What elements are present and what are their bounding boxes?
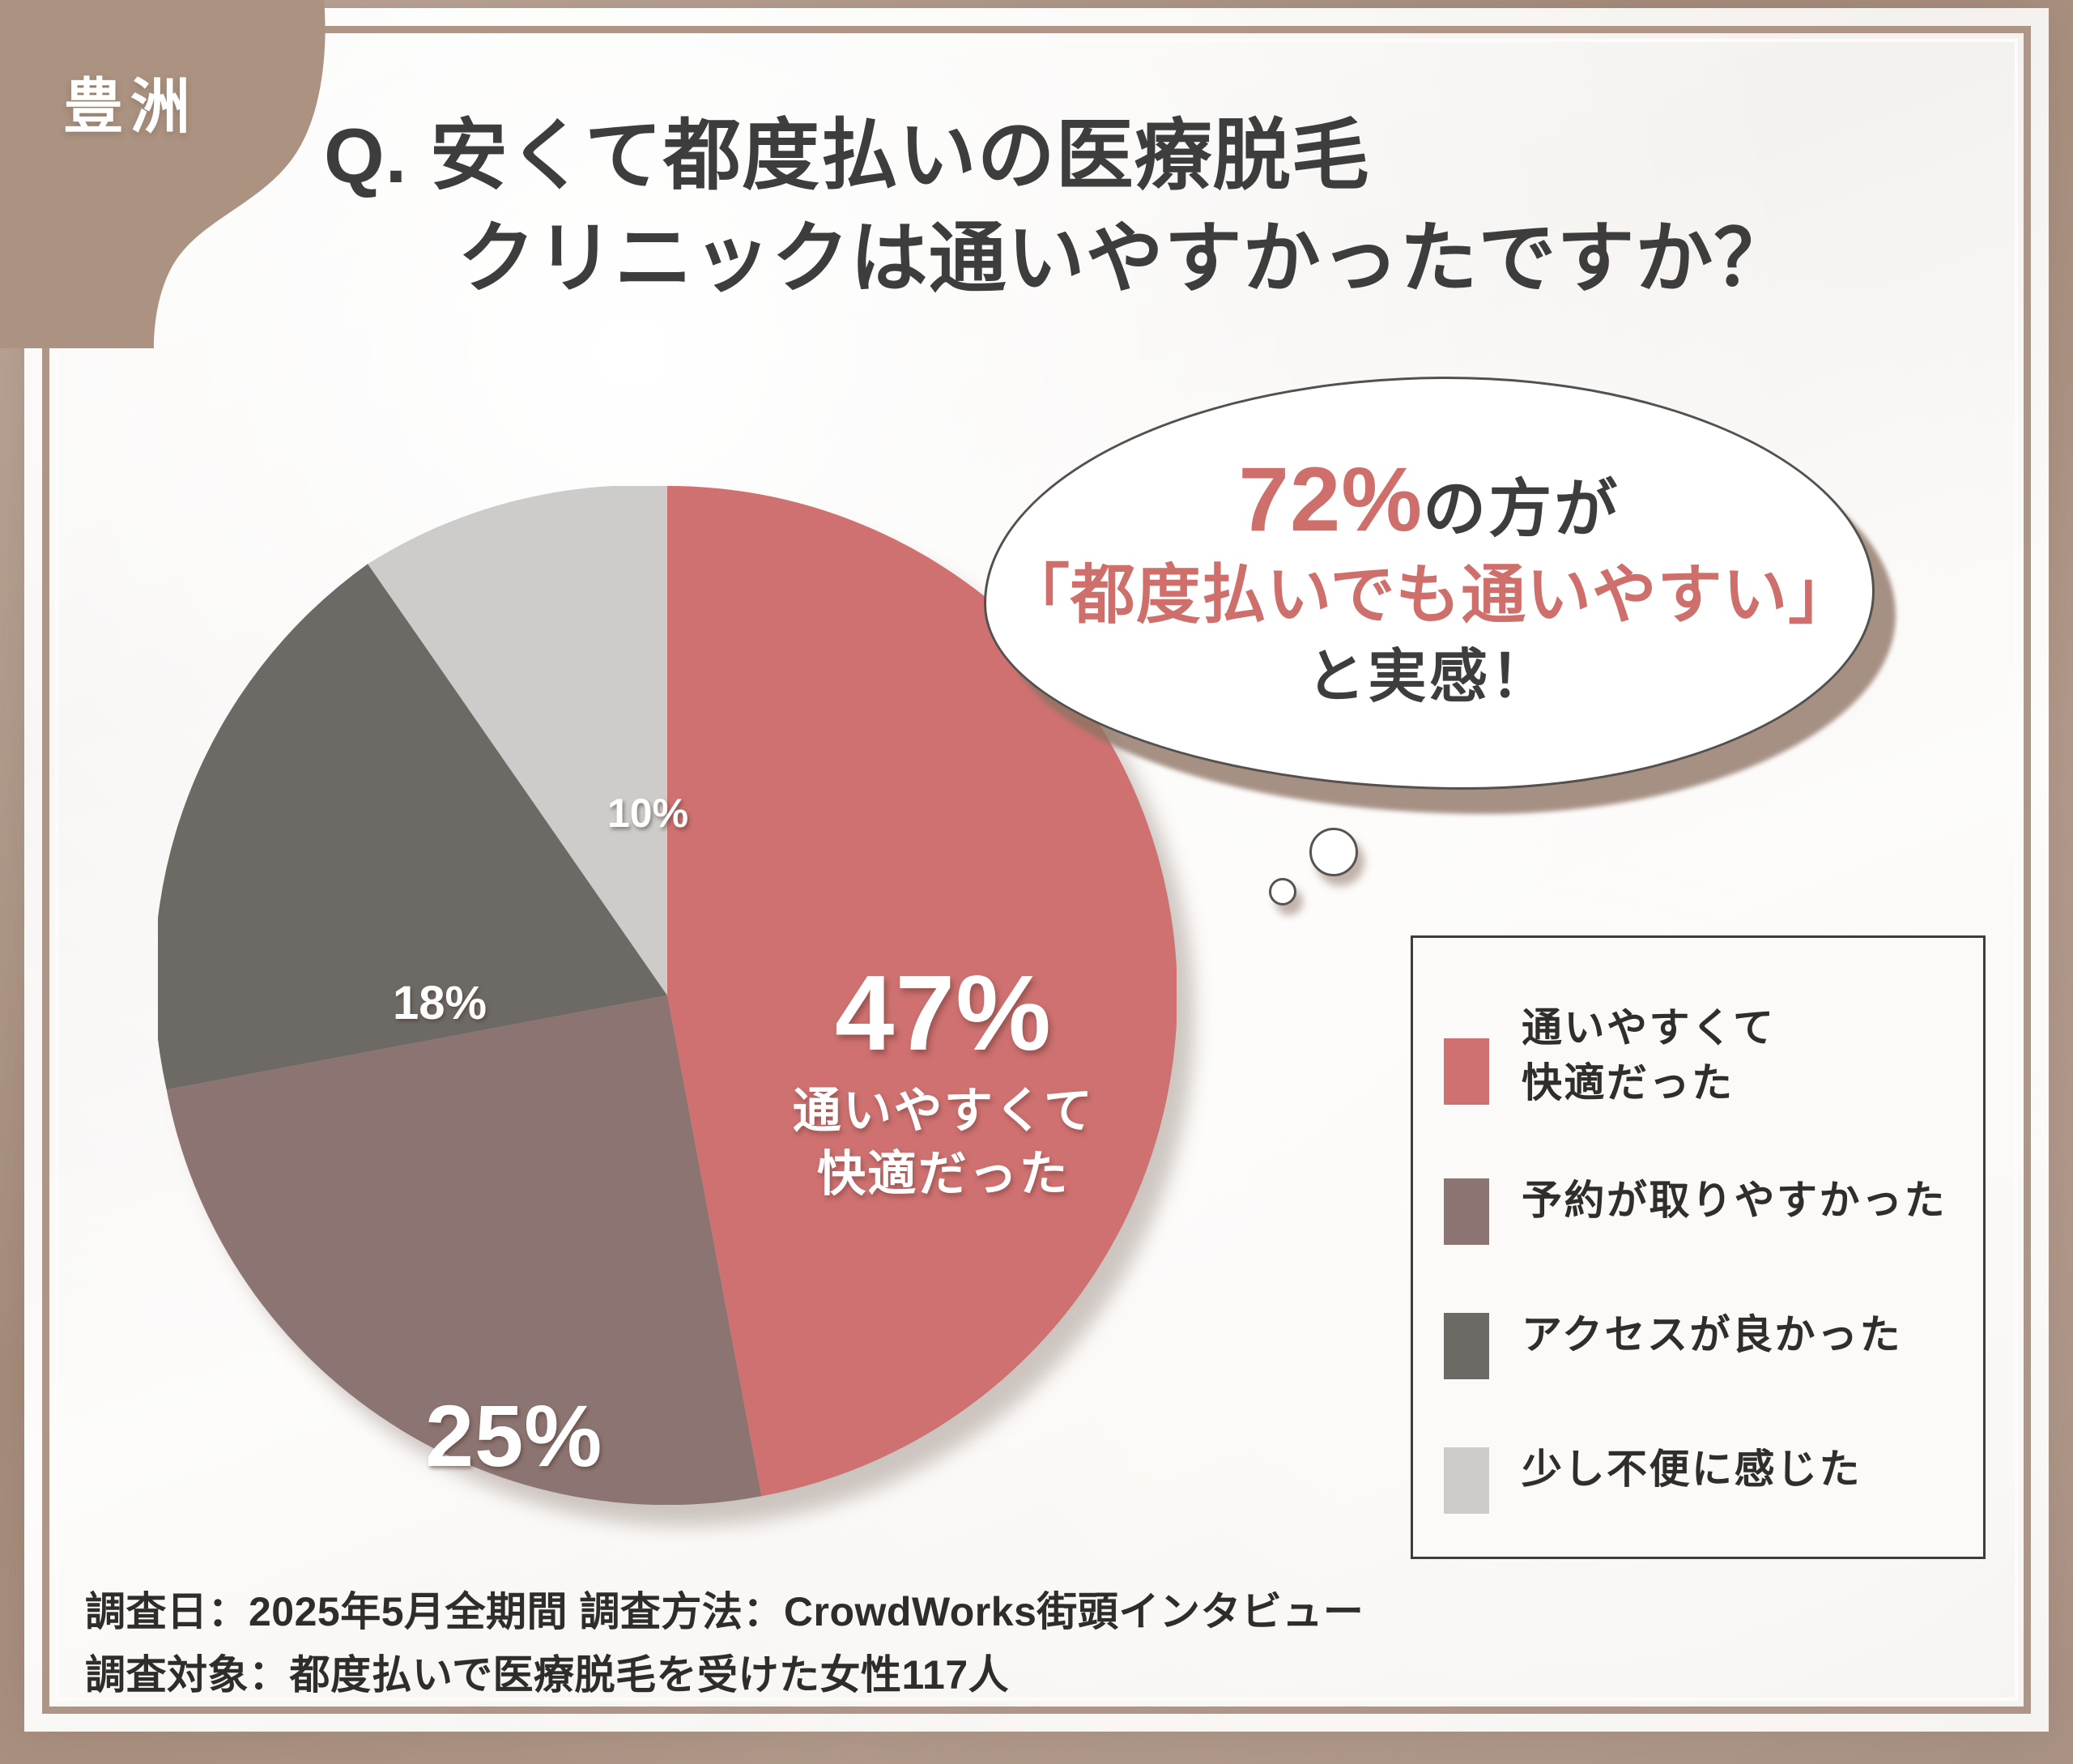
legend-swatch-3 (1444, 1447, 1489, 1514)
legend-item-0[interactable]: 通いやすくて 快適だった (1413, 1001, 1983, 1110)
page-title-line-1: Q. 安くて都度払いの医療脱毛 (324, 105, 1749, 208)
pie-slice-label-18: 18% (393, 976, 487, 1030)
legend-item-1[interactable]: 予約が取りやすかった (1413, 1174, 1983, 1245)
speech-bubble-line-1-suffix: の方が (1423, 473, 1620, 544)
speech-bubble-line-2: 「都度払いでも通いやすい」 (1005, 556, 1854, 634)
legend-swatch-0 (1444, 1038, 1489, 1105)
page-title: Q. 安くて都度払いの医療脱毛 クリニックは通いやすかったですか？ (324, 105, 1749, 310)
highlight-speech-bubble: 72%の方が 「都度払いでも通いやすい」 と実感！ (984, 377, 1907, 822)
legend-label-2: アクセスが良かった (1522, 1308, 1902, 1363)
legend-swatch-2 (1444, 1313, 1489, 1379)
survey-footnote: 調査日：2025年5月全期間 調査方法：CrowdWorks街頭インタビュー 調… (85, 1581, 1867, 1706)
survey-footnote-line-2: 調査対象：都度払いで医療脱毛を受けた女性117人 (85, 1644, 1867, 1707)
legend-label-0: 通いやすくて 快適だった (1522, 1001, 1776, 1110)
location-tab-label: 豊洲 (63, 58, 198, 145)
pie-slice-label-10: 10% (607, 790, 688, 837)
pie-slice-label-25: 25% (425, 1385, 602, 1486)
legend-item-3[interactable]: 少し不便に感じた (1413, 1442, 1983, 1514)
speech-bubble-line-1: 72%の方が (1239, 454, 1620, 545)
survey-footnote-line-1: 調査日：2025年5月全期間 調査方法：CrowdWorks街頭インタビュー (85, 1581, 1867, 1644)
speech-bubble-content: 72%の方が 「都度払いでも通いやすい」 と実感！ (984, 377, 1875, 790)
speech-bubble-tail-dot-small (1269, 878, 1296, 905)
legend-label-3: 少し不便に感じた (1522, 1442, 1862, 1498)
legend-item-2[interactable]: アクセスが良かった (1413, 1308, 1983, 1379)
speech-bubble-percent: 72% (1239, 449, 1424, 550)
legend-swatch-1 (1444, 1178, 1489, 1245)
chart-legend: 通いやすくて 快適だった 予約が取りやすかった アクセスが良かった 少し不便に感… (1411, 935, 1986, 1559)
page-title-line-2: クリニックは通いやすかったですか？ (324, 208, 1749, 311)
speech-bubble-line-3: と実感！ (1307, 642, 1552, 712)
legend-label-1: 予約が取りやすかった (1522, 1174, 1947, 1229)
speech-bubble-tail-dot-large (1309, 828, 1358, 876)
